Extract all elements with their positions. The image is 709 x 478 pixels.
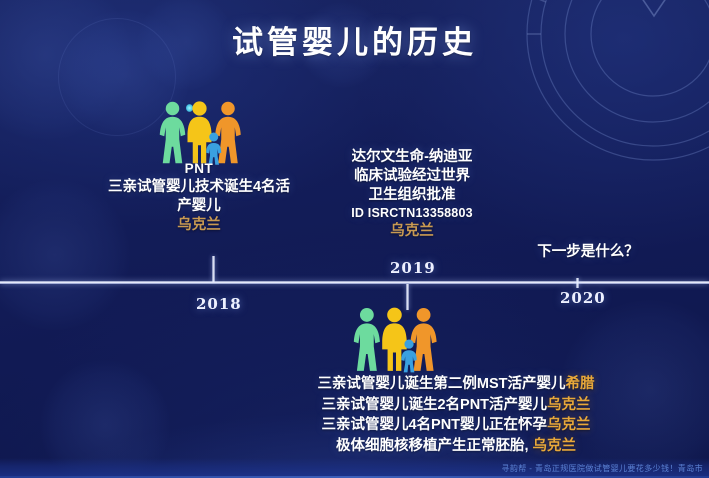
timeline-year-2020: 2020 — [560, 289, 606, 307]
timeline-tick-2018 — [212, 256, 215, 282]
achievement-text: 三亲试管婴儿诞生第二例MST活产婴儿 — [317, 376, 565, 392]
pnt-label: PNT — [92, 160, 306, 178]
achievement-country: 希腊 — [566, 376, 595, 392]
timeline-year-2018: 2018 — [196, 295, 242, 313]
achievement-country: 乌克兰 — [533, 438, 577, 454]
timeline-axis — [0, 281, 709, 284]
page-title: 试管婴儿的历史 — [0, 17, 709, 62]
achievement-text: 三亲试管婴儿诞生2名PNT活产婴儿 — [321, 397, 547, 413]
timeline-tick-2020 — [576, 278, 579, 288]
darwin-line-2: 临床试验经过世界 — [322, 167, 502, 186]
family-group-icon — [156, 100, 246, 168]
achievement-text: 三亲试管婴儿4名PNT婴儿正在怀孕 — [321, 417, 547, 433]
pnt-line-2: 产婴儿 — [92, 197, 306, 216]
darwin-text-block: 达尔文生命-纳迪亚 临床试验经过世界 卫生组织批准 ID ISRCTN13358… — [322, 148, 502, 241]
achievement-row: 三亲试管婴儿诞生第二例MST活产婴儿希腊 — [282, 374, 630, 395]
darwin-trial-id: ID ISRCTN13358803 — [322, 205, 502, 222]
darwin-country: 乌克兰 — [322, 222, 502, 241]
achievement-row: 极体细胞核移植产生正常胚胎, 乌克兰 — [282, 436, 630, 457]
darwin-line-1: 达尔文生命-纳迪亚 — [322, 148, 502, 167]
pnt-line-1: 三亲试管婴儿技术诞生4名活 — [92, 178, 306, 197]
achievements-text-block: 三亲试管婴儿诞生第二例MST活产婴儿希腊 三亲试管婴儿诞生2名PNT活产婴儿乌克… — [282, 374, 630, 456]
achievement-country: 乌克兰 — [547, 417, 591, 433]
next-step-label: 下一步是什么？ — [498, 243, 678, 262]
pnt-text-block: PNT 三亲试管婴儿技术诞生4名活 产婴儿 乌克兰 — [92, 160, 306, 235]
pnt-country: 乌克兰 — [92, 216, 306, 235]
darwin-line-3: 卫生组织批准 — [322, 186, 502, 205]
achievement-country: 乌克兰 — [547, 397, 591, 413]
timeline-year-2019: 2019 — [390, 259, 436, 277]
family-group-icon — [350, 306, 442, 376]
slide-canvas: 试管婴儿的历史 PNT 三亲试管婴儿技术诞生4名活 产婴儿 乌克兰 达尔文生命-… — [0, 0, 709, 478]
achievement-row: 三亲试管婴儿诞生2名PNT活产婴儿乌克兰 — [282, 395, 630, 416]
watermark-text: 寻韵帮 - 青岛正规医院做试管婴儿要花多少钱！青岛市 — [501, 463, 703, 474]
achievement-text: 极体细胞核移植产生正常胚胎, — [336, 438, 533, 454]
next-step-text: 下一步是什么？ — [498, 243, 678, 262]
achievement-row: 三亲试管婴儿4名PNT婴儿正在怀孕乌克兰 — [282, 415, 630, 436]
